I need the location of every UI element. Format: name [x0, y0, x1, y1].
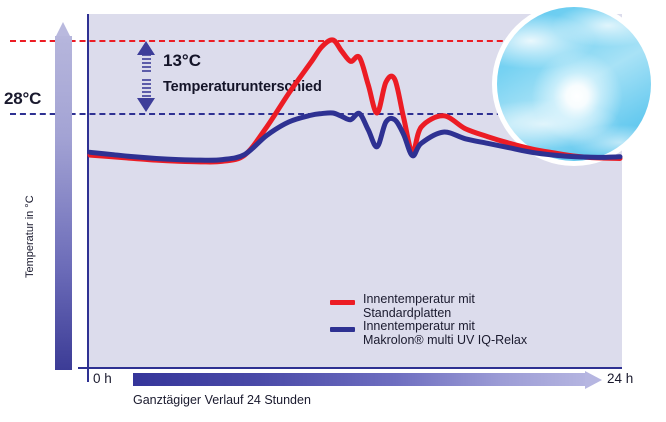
- legend-line-1: Innentemperatur mit: [363, 292, 475, 306]
- legend-swatch-red: [330, 300, 355, 305]
- legend-swatch-blue: [330, 327, 355, 332]
- series-line-makrolon: [90, 113, 620, 160]
- chart-container: 28°C Temperatur in °C 13°C Temperaturunt…: [0, 0, 666, 422]
- temperature-curves: [0, 0, 666, 422]
- legend-label-makrolon: Innentemperatur mit Makrolon® multi UV I…: [363, 320, 527, 347]
- legend-line-2: Makrolon® multi UV IQ-Relax: [363, 333, 527, 347]
- legend-line-2: Standardplatten: [363, 306, 451, 320]
- x-axis-caption: Ganztägiger Verlauf 24 Stunden: [133, 393, 311, 407]
- time-gradient-fill: [133, 373, 585, 386]
- x-axis-start-label: 0 h: [93, 371, 112, 386]
- time-gradient-bar: [133, 373, 585, 386]
- legend-label-standardplatten: Innentemperatur mit Standardplatten: [363, 293, 475, 320]
- legend-line-1: Innentemperatur mit: [363, 319, 475, 333]
- time-gradient-arrow-icon: [585, 371, 602, 389]
- series-line-standardplatten: [90, 40, 620, 162]
- x-axis-end-label: 24 h: [607, 371, 633, 386]
